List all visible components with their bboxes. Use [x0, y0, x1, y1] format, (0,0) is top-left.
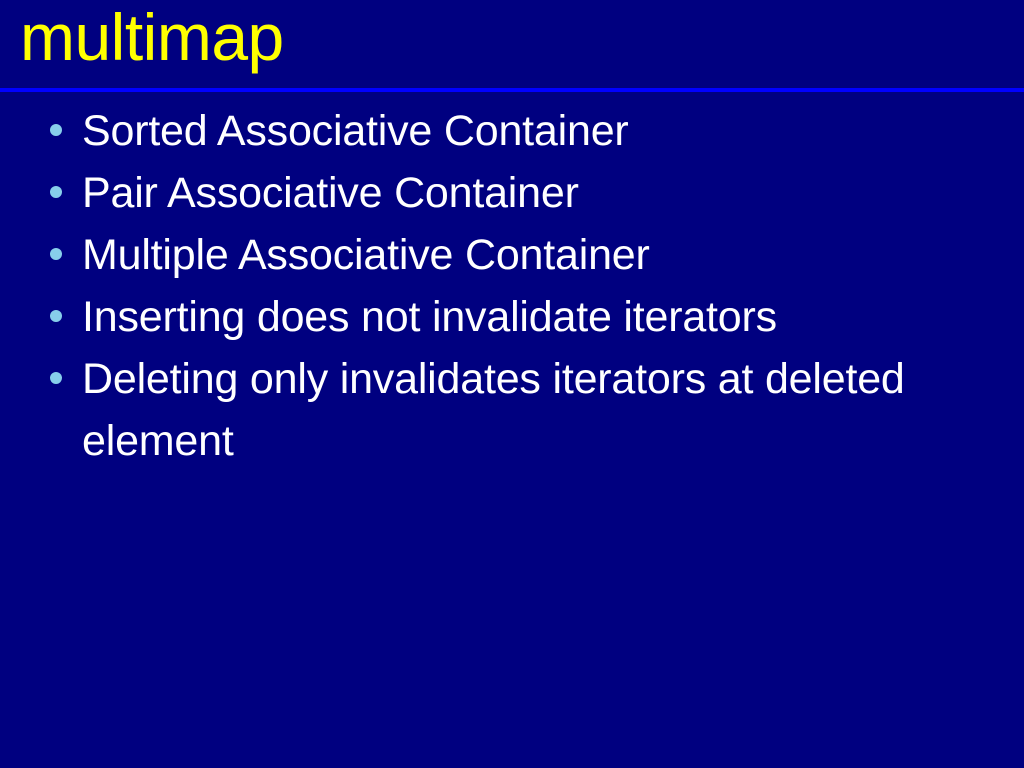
bullet-point-icon	[50, 124, 62, 136]
list-item-label: Deleting only invalidates iterators at d…	[82, 348, 922, 472]
bullet-list: Sorted Associative Container Pair Associ…	[0, 100, 1024, 472]
bullet-point-icon	[50, 248, 62, 260]
list-item-label: Multiple Associative Container	[82, 224, 964, 286]
list-item-label: Pair Associative Container	[82, 162, 964, 224]
title-divider	[0, 88, 1024, 92]
list-item: Inserting does not invalidate iterators	[0, 286, 1024, 348]
bullet-point-icon	[50, 372, 62, 384]
page-title: multimap	[20, 0, 284, 78]
list-item: Multiple Associative Container	[0, 224, 1024, 286]
slide-title-area: multimap	[0, 0, 1024, 88]
bullet-point-icon	[50, 310, 62, 322]
list-item-label: Inserting does not invalidate iterators	[82, 286, 964, 348]
list-item: Deleting only invalidates iterators at d…	[0, 348, 1024, 472]
bullet-point-icon	[50, 186, 62, 198]
list-item: Pair Associative Container	[0, 162, 1024, 224]
list-item-label: Sorted Associative Container	[82, 100, 964, 162]
presentation-slide: multimap Sorted Associative Container Pa…	[0, 0, 1024, 768]
list-item: Sorted Associative Container	[0, 100, 1024, 162]
